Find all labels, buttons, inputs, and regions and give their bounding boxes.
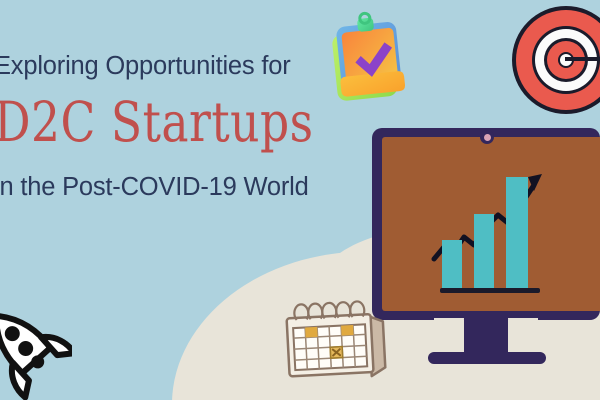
headline-line-top: Exploring Opportunities for [0,52,334,80]
headline-block: Exploring Opportunities for D2C Startups… [0,52,334,201]
clipboard-check-icon [320,8,420,108]
promo-banner: Exploring Opportunities for D2C Startups… [0,0,600,400]
growth-bar-chart [382,137,600,311]
webcam-icon [480,130,494,144]
chart-bar-3 [506,177,528,289]
rocket-icon [0,300,72,400]
monitor-base [428,352,546,364]
headline-line-main: D2C Startups [0,94,324,152]
target-icon [512,6,600,114]
calendar-highlight-2 [341,325,354,336]
calendar-icon [278,298,390,390]
chart-bar-1 [442,240,462,289]
target-arrow-icon [565,57,600,61]
monitor-screen [382,137,600,311]
chart-baseline-axis [440,288,540,293]
calendar-highlight-1 [305,327,318,338]
chart-bar-2 [474,214,494,289]
monitor-illustration [372,120,600,350]
monitor-bezel [372,128,600,320]
rocket-fin-right [41,328,72,363]
headline-line-bottom: in the Post-COVID-19 World [0,173,334,201]
webcam-lens [484,134,491,141]
